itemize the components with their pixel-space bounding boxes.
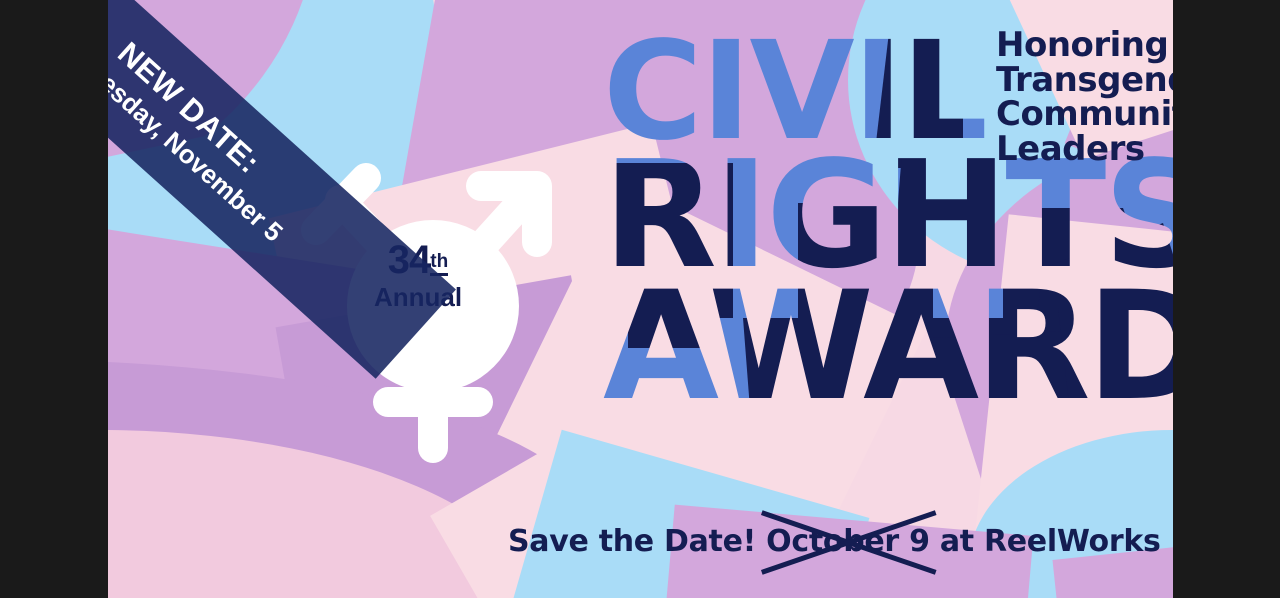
honoring-line-4: Leaders [996, 132, 1173, 167]
honoring-line-2: Transgender [996, 63, 1173, 98]
cross-out-icon [760, 512, 937, 573]
save-the-date-suffix: at ReelWorks [940, 524, 1161, 559]
struck-out-date: October 9 [766, 524, 929, 559]
save-the-date-prefix: Save the Date! [508, 524, 756, 559]
screenshot-root: CIVIL RIGHTS AWARDS [0, 0, 1280, 598]
save-the-date-line: Save the Date! October 9 at ReelWorks [508, 524, 1173, 559]
event-poster: CIVIL RIGHTS AWARDS [108, 0, 1173, 598]
honoring-line-3: Community [996, 97, 1173, 132]
honoring-block: Honoring Transgender Community Leaders [996, 28, 1173, 167]
honoring-line-1: Honoring [996, 28, 1173, 63]
